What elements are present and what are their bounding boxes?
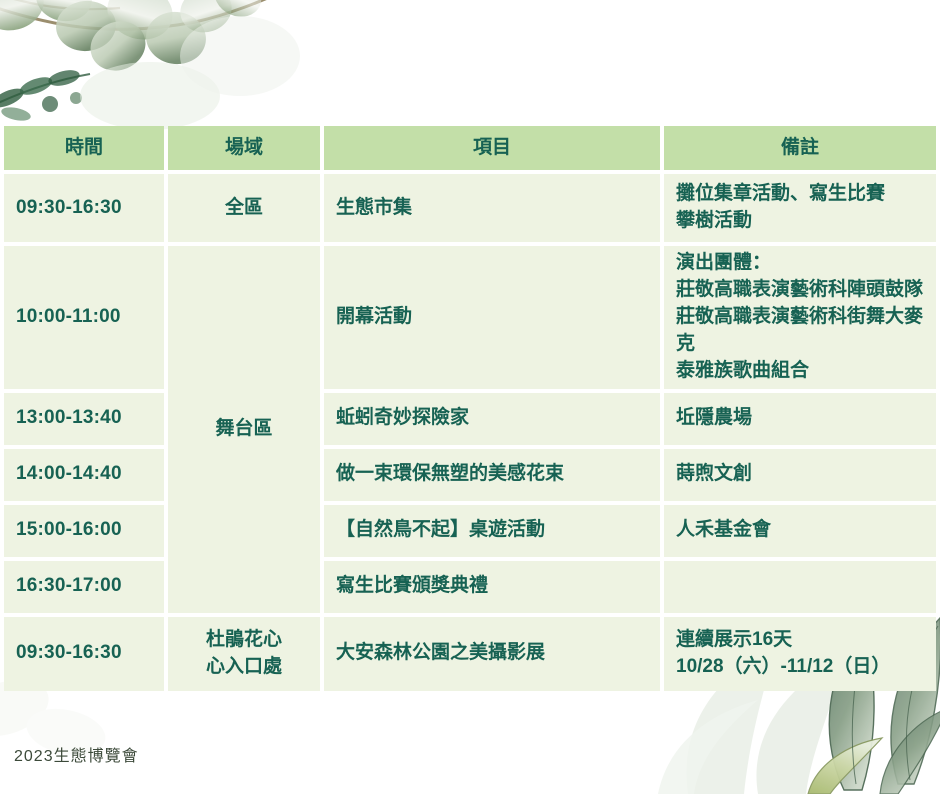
event-schedule-table: 時間 場域 項目 備註 09:30-16:30 全區 生態市集 攤位集章活動、寫… bbox=[0, 122, 940, 695]
cell-item: 【自然鳥不起】桌遊活動 bbox=[324, 505, 660, 557]
column-header-time: 時間 bbox=[4, 126, 164, 170]
cell-item: 開幕活動 bbox=[324, 246, 660, 389]
cell-note: 連續展示16天 10/28（六）-11/12（日） bbox=[664, 617, 936, 691]
cell-item: 寫生比賽頒獎典禮 bbox=[324, 561, 660, 613]
cell-time: 09:30-16:30 bbox=[4, 617, 164, 691]
cell-item: 大安森林公園之美攝影展 bbox=[324, 617, 660, 691]
table-row: 14:00-14:40 做一束環保無塑的美感花束 蒔煦文創 bbox=[4, 449, 936, 501]
table-row: 16:30-17:00 寫生比賽頒獎典禮 bbox=[4, 561, 936, 613]
column-header-item: 項目 bbox=[324, 126, 660, 170]
cell-note: 坵隱農場 bbox=[664, 393, 936, 445]
footer-note: 2023生態博覽會 bbox=[14, 742, 139, 766]
cell-note bbox=[664, 561, 936, 613]
cell-item: 生態市集 bbox=[324, 174, 660, 242]
cell-time: 09:30-16:30 bbox=[4, 174, 164, 242]
table-row: 13:00-13:40 蚯蚓奇妙探險家 坵隱農場 bbox=[4, 393, 936, 445]
cell-zone-stage: 舞台區 bbox=[168, 246, 320, 613]
cell-note: 演出團體： 莊敬高職表演藝術科陣頭鼓隊 莊敬高職表演藝術科街舞大麥克 泰雅族歌曲… bbox=[664, 246, 936, 389]
cell-item: 做一束環保無塑的美感花束 bbox=[324, 449, 660, 501]
table-row: 09:30-16:30 杜鵑花心 心入口處 大安森林公園之美攝影展 連續展示16… bbox=[4, 617, 936, 691]
table-row: 10:00-11:00 舞台區 開幕活動 演出團體： 莊敬高職表演藝術科陣頭鼓隊… bbox=[4, 246, 936, 389]
table-header-row: 時間 場域 項目 備註 bbox=[4, 126, 936, 170]
cell-item: 蚯蚓奇妙探險家 bbox=[324, 393, 660, 445]
cell-note: 攤位集章活動、寫生比賽 攀樹活動 bbox=[664, 174, 936, 242]
cell-zone: 全區 bbox=[168, 174, 320, 242]
table-row: 09:30-16:30 全區 生態市集 攤位集章活動、寫生比賽 攀樹活動 bbox=[4, 174, 936, 242]
column-header-note: 備註 bbox=[664, 126, 936, 170]
cell-note: 蒔煦文創 bbox=[664, 449, 936, 501]
cell-time: 15:00-16:00 bbox=[4, 505, 164, 557]
cell-zone: 杜鵑花心 心入口處 bbox=[168, 617, 320, 691]
cell-time: 10:00-11:00 bbox=[4, 246, 164, 389]
cell-time: 13:00-13:40 bbox=[4, 393, 164, 445]
schedule-sheet: 時間 場域 項目 備註 09:30-16:30 全區 生態市集 攤位集章活動、寫… bbox=[0, 0, 940, 788]
cell-time: 14:00-14:40 bbox=[4, 449, 164, 501]
column-header-zone: 場域 bbox=[168, 126, 320, 170]
cell-time: 16:30-17:00 bbox=[4, 561, 164, 613]
cell-note: 人禾基金會 bbox=[664, 505, 936, 557]
table-row: 15:00-16:00 【自然鳥不起】桌遊活動 人禾基金會 bbox=[4, 505, 936, 557]
